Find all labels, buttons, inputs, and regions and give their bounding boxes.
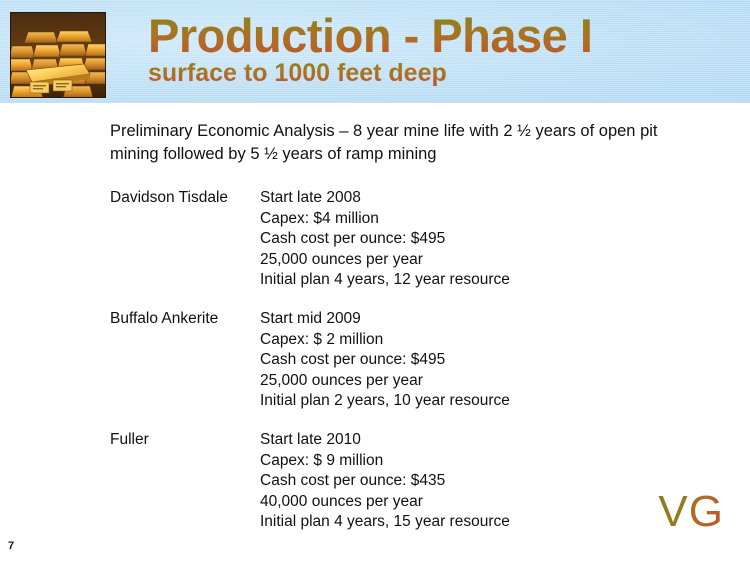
detail-line-ounces: 25,000 ounces per year: [260, 250, 670, 271]
project-details: Start late 2008 Capex: $4 million Cash c…: [260, 188, 670, 291]
page-subtitle: surface to 1000 feet deep: [148, 58, 728, 88]
project-label: Buffalo Ankerite: [110, 309, 260, 330]
slide-canvas: Production - Phase I surface to 1000 fee…: [0, 0, 750, 563]
project-label: Fuller: [110, 430, 260, 451]
project-details: Start mid 2009 Capex: $ 2 million Cash c…: [260, 309, 670, 412]
page-title: Production - Phase I: [148, 8, 728, 64]
detail-line-start: Start late 2010: [260, 430, 670, 451]
detail-line-ounces: 25,000 ounces per year: [260, 371, 670, 392]
intro-paragraph: Preliminary Economic Analysis – 8 year m…: [110, 120, 670, 166]
detail-line-capex: Capex: $ 9 million: [260, 451, 670, 472]
gold-bars-photo: [10, 12, 106, 98]
detail-line-capex: Capex: $ 2 million: [260, 330, 670, 351]
detail-line-start: Start mid 2009: [260, 309, 670, 330]
detail-line-initial-plan: Initial plan 2 years, 10 year resource: [260, 391, 670, 412]
detail-line-cash-cost: Cash cost per ounce: $495: [260, 229, 670, 250]
page-number: 7: [8, 540, 14, 552]
detail-line-cash-cost: Cash cost per ounce: $435: [260, 471, 670, 492]
detail-line-initial-plan: Initial plan 4 years, 15 year resource: [260, 512, 670, 533]
detail-line-ounces: 40,000 ounces per year: [260, 492, 670, 513]
project-block-fuller: Fuller Start late 2010 Capex: $ 9 millio…: [110, 430, 670, 533]
detail-line-initial-plan: Initial plan 4 years, 12 year resource: [260, 270, 670, 291]
detail-line-cash-cost: Cash cost per ounce: $495: [260, 350, 670, 371]
company-logo-vg: VG: [658, 488, 724, 536]
project-block-buffalo-ankerite: Buffalo Ankerite Start mid 2009 Capex: $…: [110, 309, 670, 412]
detail-line-start: Start late 2008: [260, 188, 670, 209]
detail-line-capex: Capex: $4 million: [260, 209, 670, 230]
title-block: Production - Phase I surface to 1000 fee…: [148, 8, 728, 88]
project-details: Start late 2010 Capex: $ 9 million Cash …: [260, 430, 670, 533]
project-block-davidson-tisdale: Davidson Tisdale Start late 2008 Capex: …: [110, 188, 670, 291]
project-label: Davidson Tisdale: [110, 188, 260, 209]
